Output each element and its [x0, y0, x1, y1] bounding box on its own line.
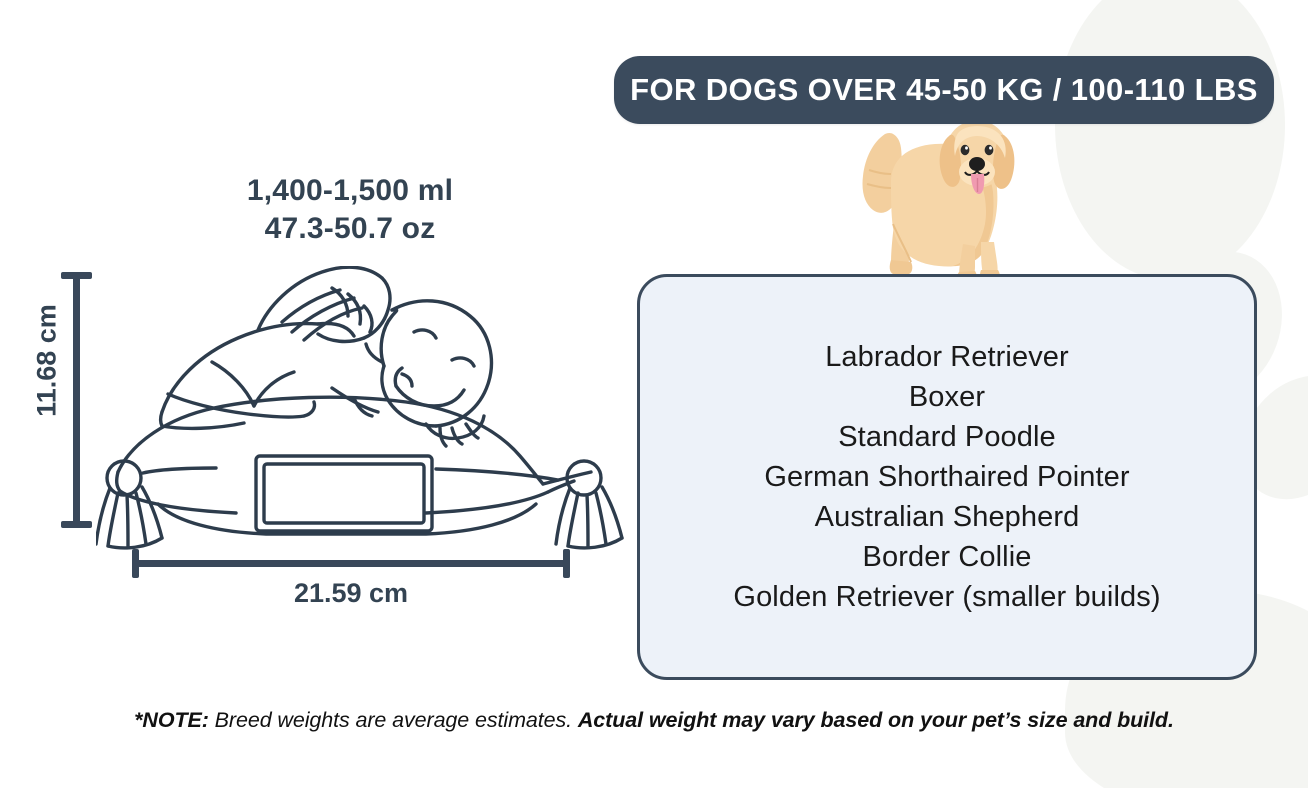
urn-diagram: 1,400-1,500 ml 47.3-50.7 oz 11.68 cm [0, 0, 640, 700]
breed-list: Labrador Retriever Boxer Standard Poodle… [640, 337, 1254, 617]
volume-ml-value: 1,400-1,500 ml [120, 172, 580, 210]
footnote-middle: Breed weights are average estimates. [209, 708, 578, 732]
footnote: *NOTE: Breed weights are average estimat… [0, 708, 1308, 733]
height-dimension-cap-bottom [61, 521, 92, 528]
volume-oz-value: 47.3-50.7 oz [120, 210, 580, 248]
list-item: Standard Poodle [640, 417, 1254, 457]
infographic-page: 1,400-1,500 ml 47.3-50.7 oz 11.68 cm [0, 0, 1308, 788]
height-dimension-line [73, 272, 80, 528]
width-dimension-label: 21.59 cm [132, 578, 570, 609]
weight-range-banner-text: FOR DOGS OVER 45-50 KG / 100-110 LBS [630, 72, 1258, 108]
height-dimension-label: 11.68 cm [32, 286, 63, 436]
list-item: Border Collie [640, 537, 1254, 577]
list-item: German Shorthaired Pointer [640, 457, 1254, 497]
paw-pad-watermark-icon [1055, 0, 1285, 280]
list-item: Boxer [640, 377, 1254, 417]
sleeping-angel-dog-urn-illustration [96, 266, 641, 551]
width-dimension-cap-right [563, 549, 570, 578]
volume-capacity-label: 1,400-1,500 ml 47.3-50.7 oz [120, 172, 580, 249]
weight-range-banner: FOR DOGS OVER 45-50 KG / 100-110 LBS [614, 56, 1274, 124]
footnote-prefix: *NOTE: [134, 708, 209, 732]
list-item: Labrador Retriever [640, 337, 1254, 377]
width-dimension-line [132, 560, 570, 567]
golden-retriever-illustration-icon [855, 104, 1030, 282]
breed-list-panel: Labrador Retriever Boxer Standard Poodle… [637, 274, 1257, 680]
list-item: Golden Retriever (smaller builds) [640, 577, 1254, 617]
footnote-emphasis: Actual weight may vary based on your pet… [578, 708, 1174, 732]
list-item: Australian Shepherd [640, 497, 1254, 537]
